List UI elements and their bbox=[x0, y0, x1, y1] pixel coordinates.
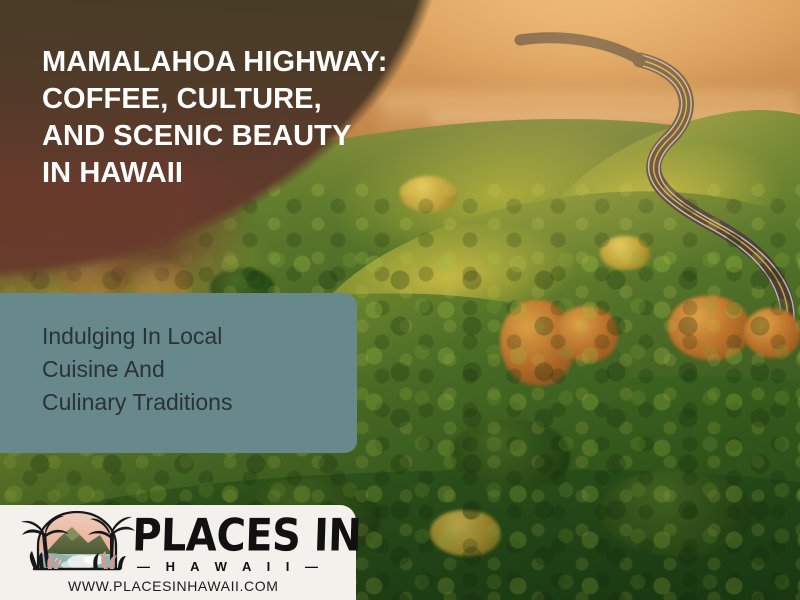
title-line-2: Coffee, Culture, bbox=[42, 81, 402, 118]
logo-dash-left: — bbox=[137, 559, 156, 574]
logo-subword: H A W A I I bbox=[166, 559, 296, 574]
subtitle-panel: Indulging In Local Cuisine And Culinary … bbox=[0, 293, 357, 453]
page-title: Mamalahoa Highway: Coffee, Culture, And … bbox=[42, 44, 402, 192]
featured-image-canvas: Mamalahoa Highway: Coffee, Culture, And … bbox=[0, 0, 800, 600]
logo-wordmark: PLACES IN bbox=[131, 510, 362, 562]
subtitle-text: Indulging In Local Cuisine And Culinary … bbox=[42, 320, 342, 419]
title-line-1: Mamalahoa Highway: bbox=[42, 44, 402, 81]
title-line-4: In Hawaii bbox=[42, 155, 402, 192]
logo-dash-right: — bbox=[305, 559, 324, 574]
logo-subword-row: — H A W A I I — bbox=[137, 559, 324, 574]
subtitle-line-2: Cuisine And bbox=[42, 353, 342, 386]
website-url[interactable]: WWW.PLACESINHAWAII.COM bbox=[68, 578, 279, 594]
title-line-3: And Scenic Beauty bbox=[42, 118, 402, 155]
subtitle-line-3: Culinary Traditions bbox=[42, 386, 342, 419]
subtitle-line-1: Indulging In Local bbox=[42, 320, 342, 353]
hawaii-island-scene-emblem bbox=[18, 511, 136, 577]
